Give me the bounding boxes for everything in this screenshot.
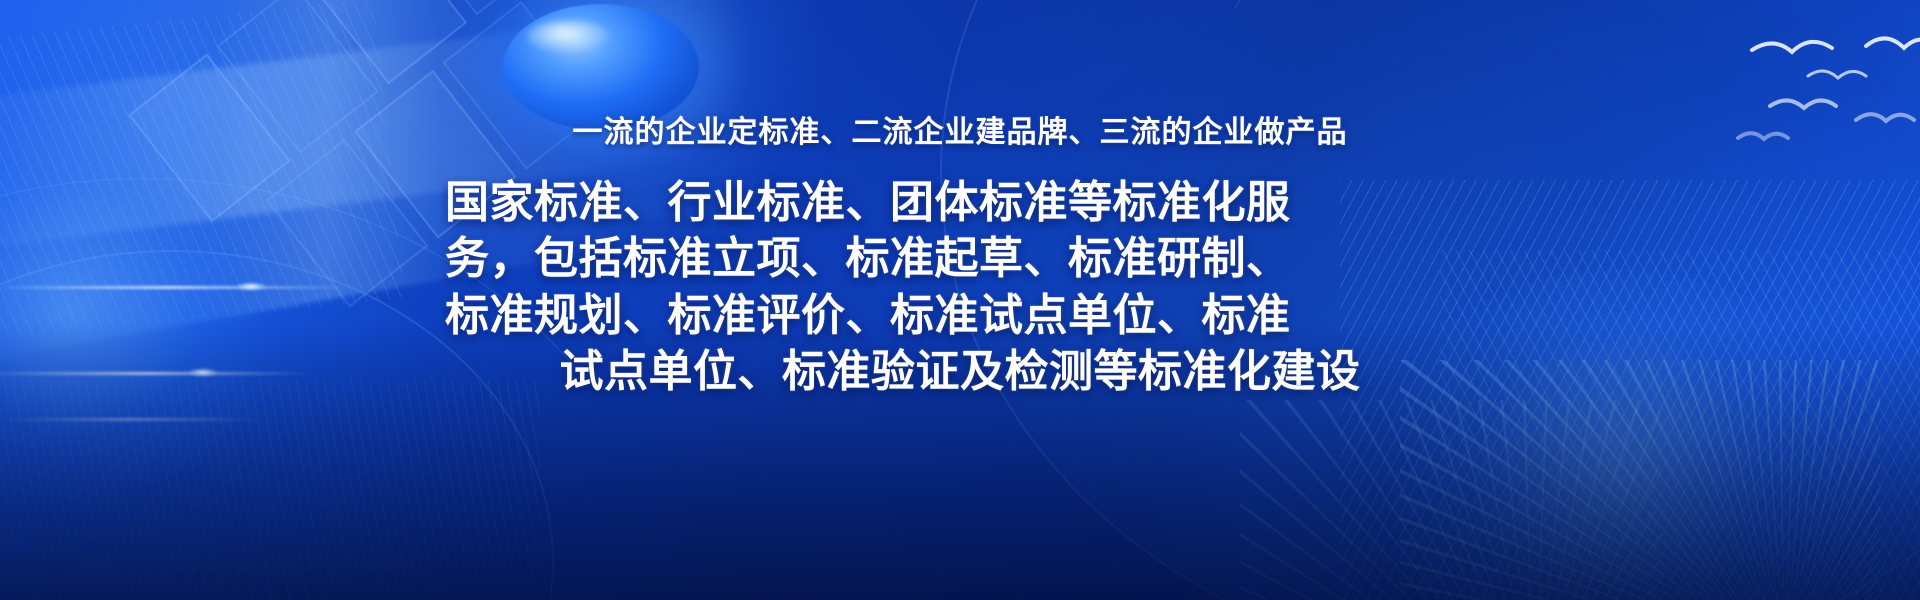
banner-body-line-4: 试点单位、标准验证及检测等标准化建设 (445, 344, 1475, 400)
banner-body-text: 国家标准、行业标准、团体标准等标准化服 务，包括标准立项、标准起草、标准研制、 … (445, 175, 1475, 400)
banner-body-line-2: 务，包括标准立项、标准起草、标准研制、 (445, 231, 1475, 287)
banner-headline: 一流的企业定标准、二流企业建品牌、三流的企业做产品 (0, 116, 1920, 149)
banner-body-line-1: 国家标准、行业标准、团体标准等标准化服 (445, 175, 1475, 231)
banner-body-line-3: 标准规划、标准评价、标准试点单位、标准 (445, 288, 1475, 344)
hero-banner: 一流的企业定标准、二流企业建品牌、三流的企业做产品 国家标准、行业标准、团体标准… (0, 0, 1920, 600)
banner-text-container: 一流的企业定标准、二流企业建品牌、三流的企业做产品 国家标准、行业标准、团体标准… (0, 0, 1920, 400)
